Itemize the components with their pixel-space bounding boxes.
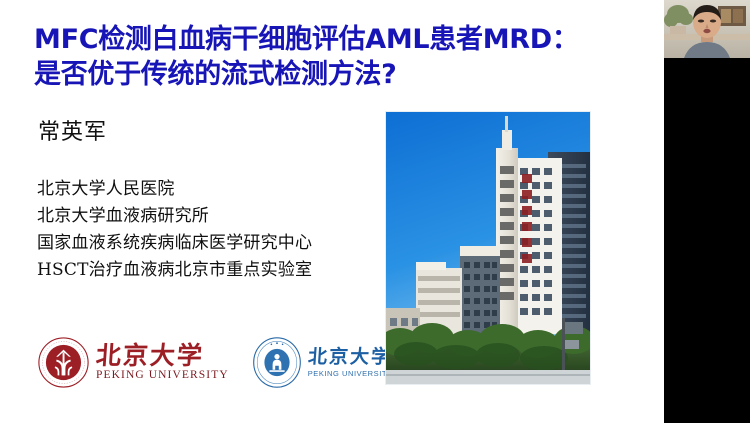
screen-root: MFC检测白血病干细胞评估AML患者MRD： 是否优于传统的流式检测方法? 常英… bbox=[0, 0, 750, 423]
pku-seal-icon bbox=[38, 337, 89, 388]
pkuph-seal-icon bbox=[253, 337, 301, 388]
presenter-webcam[interactable] bbox=[664, 0, 750, 58]
slide-title-line-1: MFC检测白血病干细胞评估AML患者MRD： bbox=[34, 22, 644, 57]
affiliation-item: HSCT治疗血液病北京市重点实验室 bbox=[37, 257, 387, 284]
logo-peking-university: 北京大学 PEKING UNIVERSITY bbox=[38, 337, 229, 388]
affiliation-item: 北京大学人民医院 bbox=[37, 176, 387, 203]
slide-title-line-2: 是否优于传统的流式检测方法? bbox=[34, 57, 644, 92]
video-sidebar-panel bbox=[664, 0, 750, 423]
slide-title: MFC检测白血病干细胞评估AML患者MRD： 是否优于传统的流式检测方法? bbox=[34, 22, 644, 92]
affiliation-item: 国家血液系统疾病临床医学研究中心 bbox=[37, 230, 387, 257]
pku-logo-cn: 北京大学 bbox=[95, 343, 229, 368]
pku-logo-text: 北京大学 PEKING UNIVERSITY bbox=[96, 343, 229, 382]
affiliation-list: 北京大学人民医院 北京大学血液病研究所 国家血液系统疾病临床医学研究中心 HSC… bbox=[37, 176, 387, 284]
presentation-slide: MFC检测白血病干细胞评估AML患者MRD： 是否优于传统的流式检测方法? 常英… bbox=[0, 0, 664, 423]
author-name: 常英军 bbox=[38, 120, 107, 146]
hospital-building-photo bbox=[386, 112, 590, 384]
pku-logo-en: PEKING UNIVERSITY bbox=[96, 370, 229, 382]
affiliation-item: 北京大学血液病研究所 bbox=[37, 203, 387, 230]
